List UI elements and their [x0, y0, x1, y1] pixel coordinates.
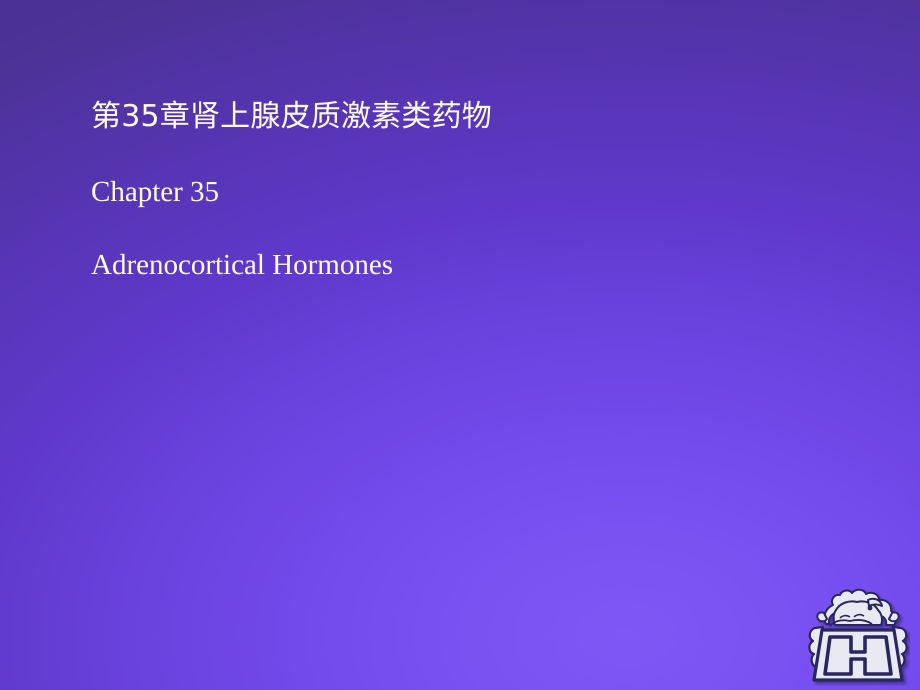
slide-canvas: 第35章肾上腺皮质激素类药物 Chapter 35 Adrenocortical… — [0, 0, 920, 690]
crest-icon — [806, 580, 910, 686]
title-spacer-one — [91, 138, 791, 172]
slide-title-english: Adrenocortical Hormones — [91, 245, 791, 285]
chapter-label: Chapter 35 — [91, 172, 791, 212]
title-text-block: 第35章肾上腺皮质激素类药物 Chapter 35 Adrenocortical… — [91, 96, 791, 285]
university-crest-logo — [806, 580, 910, 686]
title-spacer-two — [91, 212, 791, 245]
slide-title-chinese: 第35章肾上腺皮质激素类药物 — [91, 96, 791, 138]
